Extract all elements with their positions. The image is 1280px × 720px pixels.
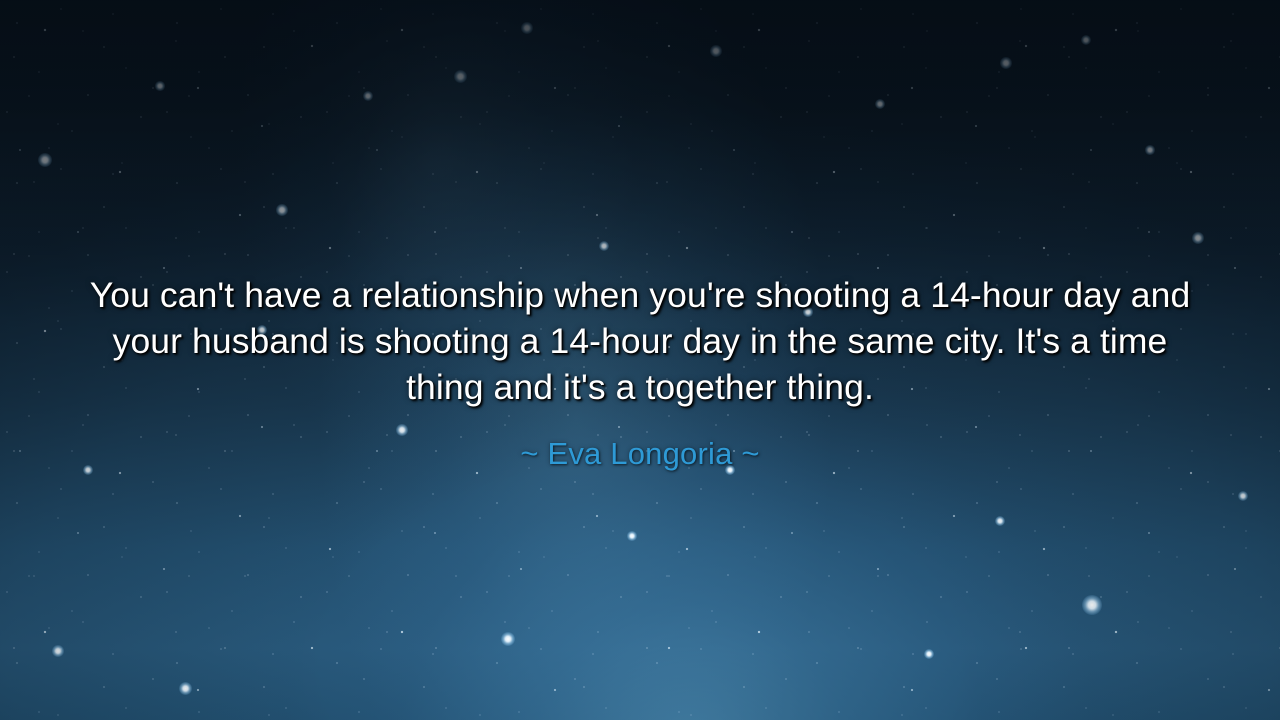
bright-star-2	[276, 204, 288, 216]
bright-star-14	[179, 682, 192, 695]
bright-star-6	[599, 241, 609, 251]
bright-star-10	[1081, 35, 1091, 45]
bright-star-3	[363, 91, 373, 101]
bright-star-1	[38, 153, 52, 167]
quote-author: ~ Eva Longoria ~	[64, 436, 1216, 472]
bright-star-23	[627, 531, 636, 540]
bright-star-7	[710, 45, 722, 57]
bright-star-25	[1145, 145, 1154, 154]
bright-star-5	[521, 22, 533, 34]
bright-star-15	[52, 645, 64, 657]
bright-star-18	[924, 649, 934, 659]
quote-block: You can't have a relationship when you'r…	[0, 272, 1280, 472]
bright-star-4	[454, 70, 467, 83]
quote-card: You can't have a relationship when you'r…	[0, 0, 1280, 720]
bright-star-11	[1192, 232, 1204, 244]
quote-text: You can't have a relationship when you'r…	[80, 272, 1200, 410]
bright-star-20	[1238, 491, 1248, 501]
bright-star-9	[1000, 57, 1012, 69]
bright-star-12	[1082, 595, 1103, 616]
bright-star-8	[875, 99, 885, 109]
bright-star-26	[155, 81, 164, 90]
bright-star-21	[995, 516, 1005, 526]
bright-star-13	[501, 632, 515, 646]
